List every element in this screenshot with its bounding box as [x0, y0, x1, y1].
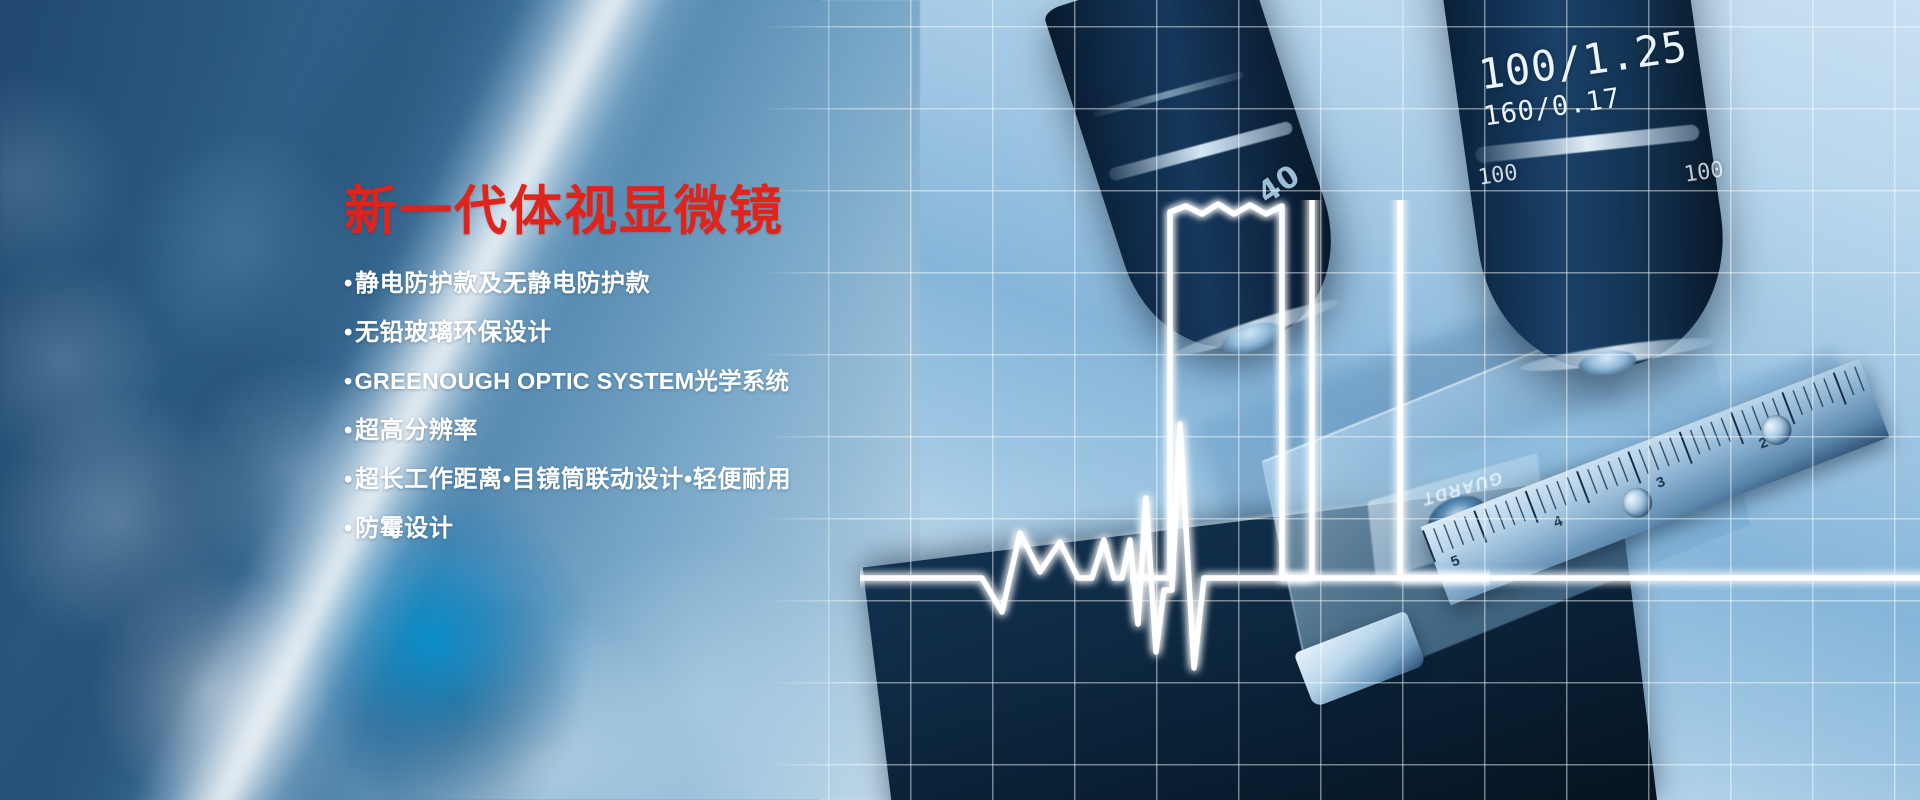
hero-banner: GUARDT 5 4 3 2 40 100/1.25 160/0.17 100 …: [0, 0, 1920, 800]
page-title: 新一代体视显微镜: [344, 185, 984, 238]
bullet-marker: •: [344, 319, 353, 346]
bullet-marker: •: [344, 515, 353, 542]
list-item: •GREENOUGH OPTIC SYSTEM光学系统: [344, 370, 984, 394]
list-item: •超高分辨率: [344, 419, 984, 443]
feature-list: •静电防护款及无静电防护款 •无铅玻璃环保设计 •GREENOUGH OPTIC…: [344, 272, 984, 541]
feature-text: 超高分辨率: [355, 417, 478, 444]
banner-copy-block: 新一代体视显微镜 •静电防护款及无静电防护款 •无铅玻璃环保设计 •GREENO…: [344, 185, 984, 566]
square-pulse-trace: [1130, 0, 1490, 620]
list-item: •静电防护款及无静电防护款: [344, 272, 984, 296]
bullet-marker: •: [344, 417, 353, 444]
bullet-marker: •: [344, 368, 352, 394]
feature-text: 防霉设计: [355, 515, 453, 542]
list-item: •防霉设计: [344, 517, 984, 541]
feature-text: GREENOUGH OPTIC SYSTEM光学系统: [354, 368, 789, 394]
bullet-marker: •: [344, 270, 353, 297]
bullet-marker: •: [344, 466, 353, 493]
list-item: •超长工作距离•目镜筒联动设计•轻便耐用: [344, 468, 984, 492]
feature-text: 无铅玻璃环保设计: [355, 319, 552, 346]
feature-text: 静电防护款及无静电防护款: [355, 270, 650, 297]
feature-text: 超长工作距离•目镜筒联动设计•轻便耐用: [355, 466, 791, 493]
list-item: •无铅玻璃环保设计: [344, 321, 984, 345]
